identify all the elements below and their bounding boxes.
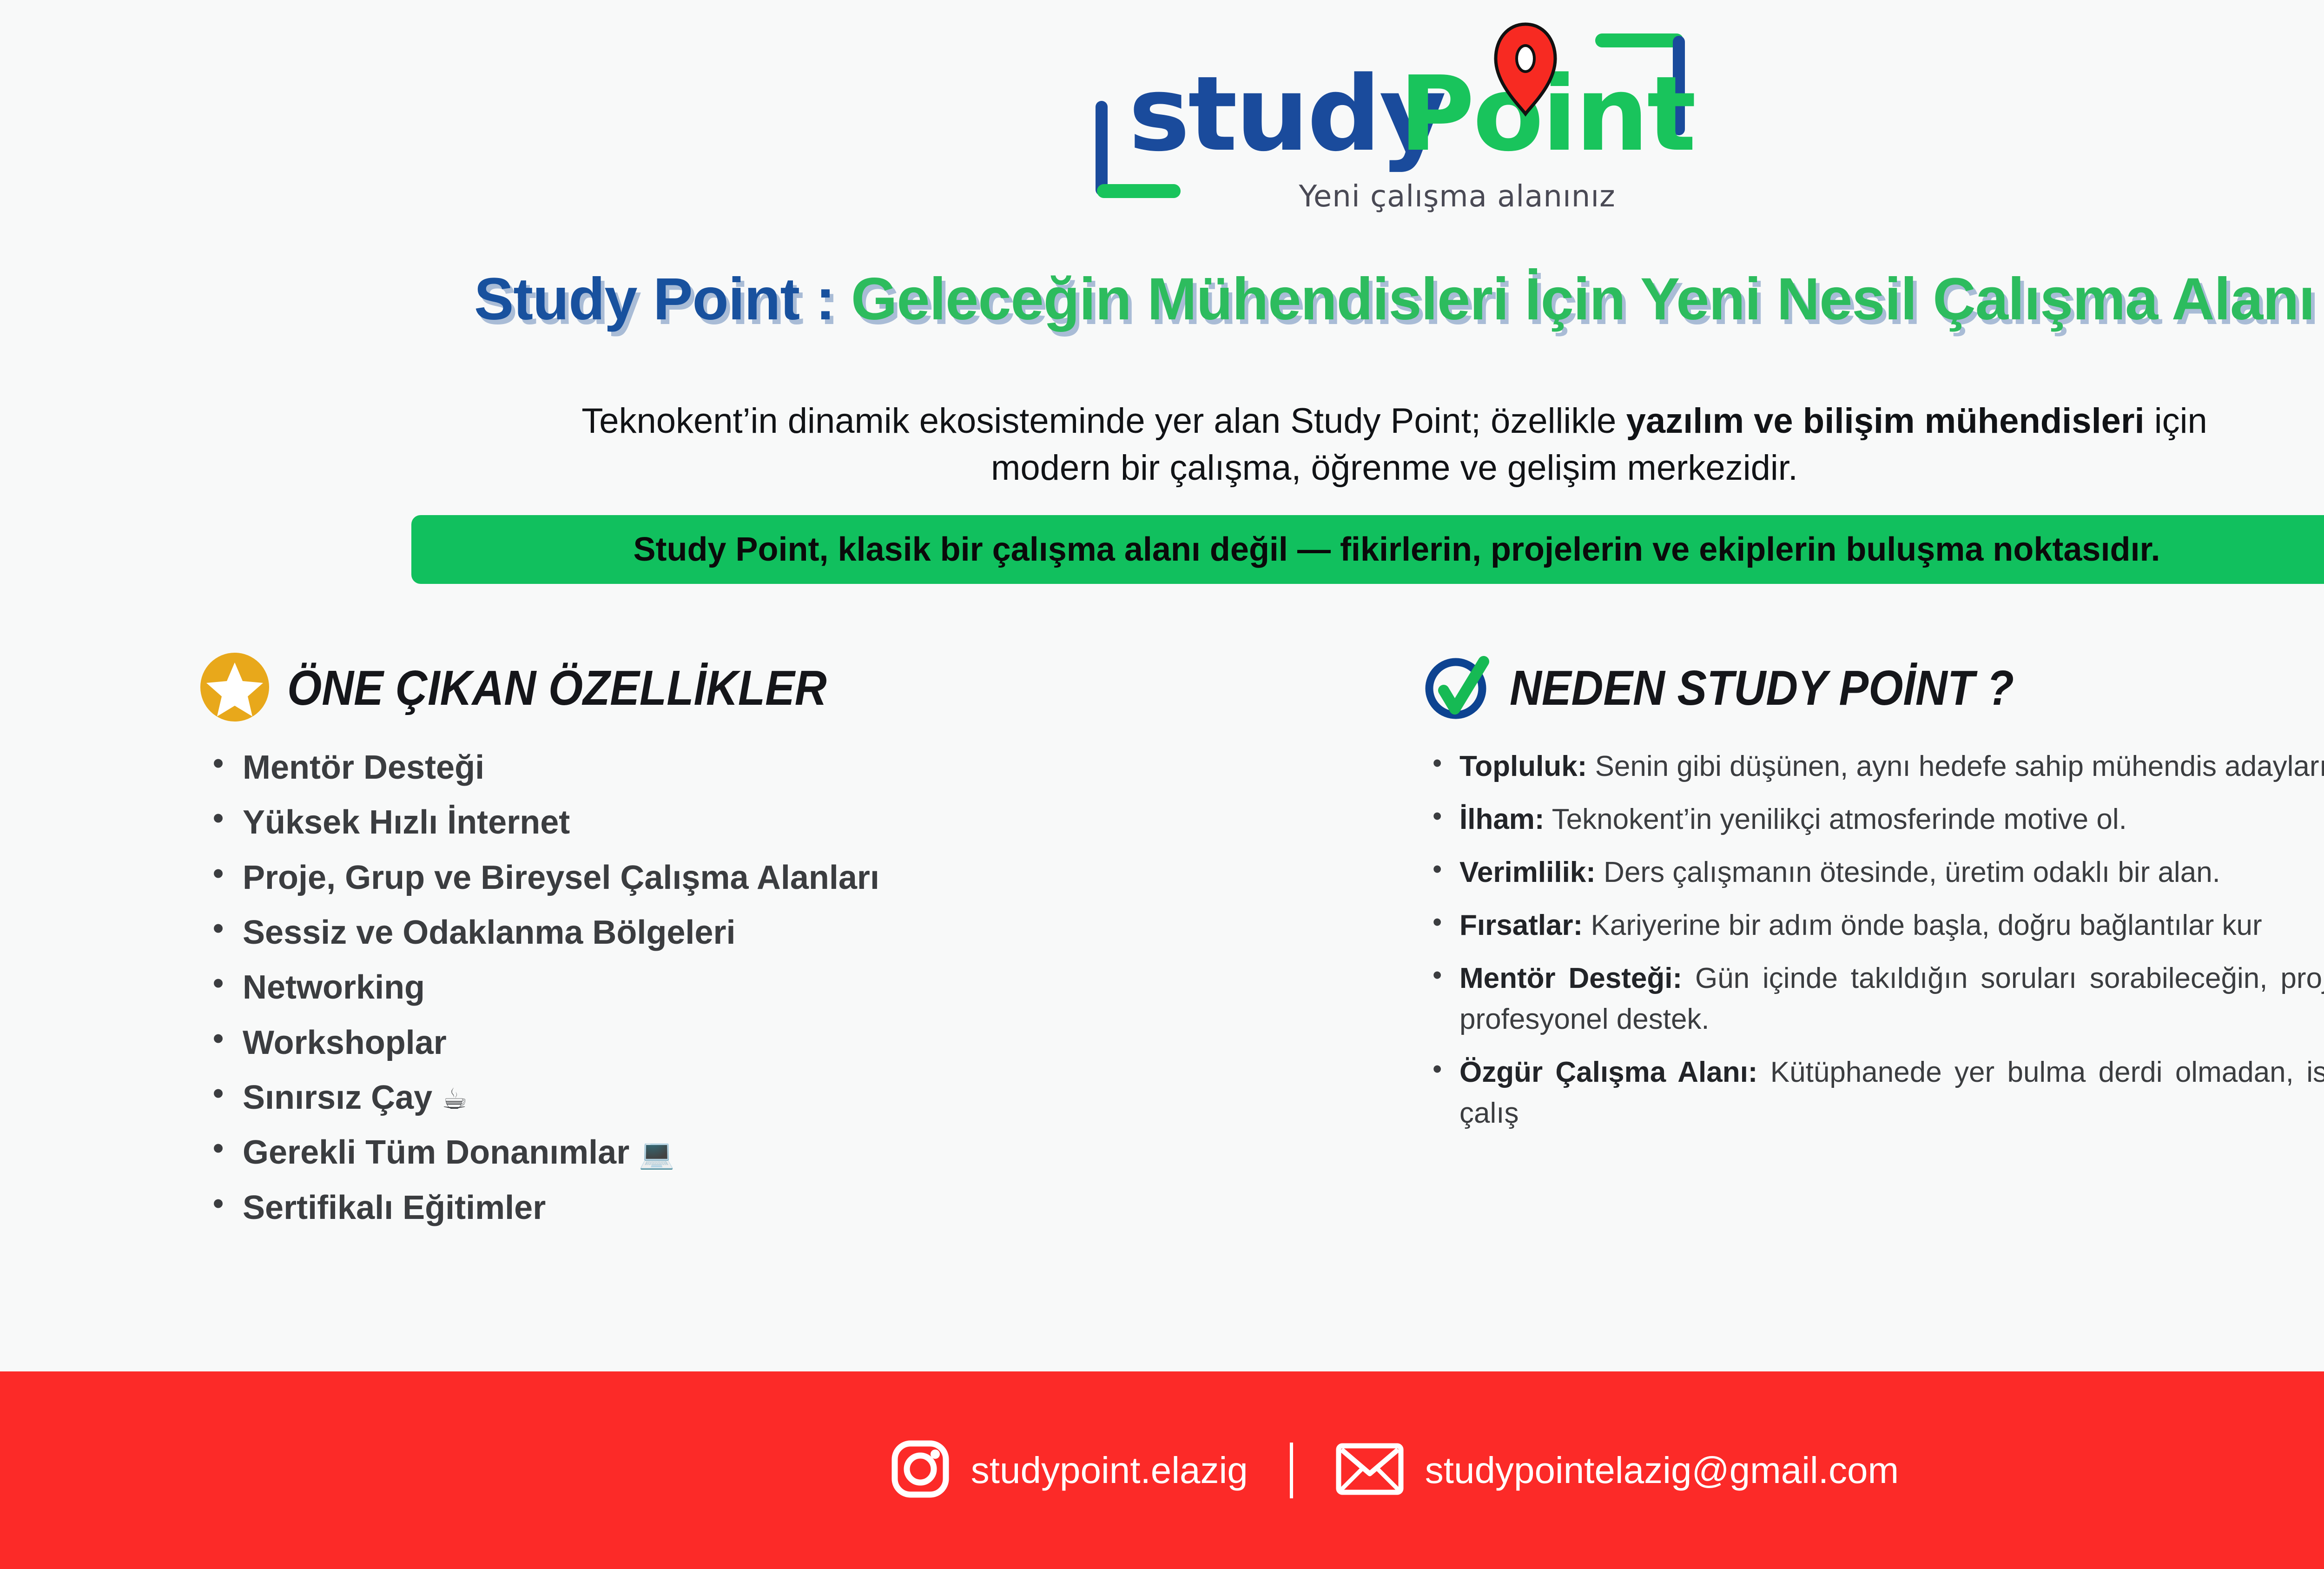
intro-line-2: modern bir çalışma, öğrenme ve gelişim m… — [991, 448, 1798, 488]
feature-text: Mentör Desteği — [243, 749, 484, 786]
list-item: Topluluk: Senin gibi düşünen, aynı hedef… — [1422, 746, 2324, 787]
list-item: Sertifikalı Eğitimler — [200, 1190, 1292, 1225]
feature-text: Gerekli Tüm Donanımlar — [243, 1134, 639, 1171]
feature-text: Yüksek Hızlı İnternet — [243, 804, 570, 841]
highlight-banner-text: Study Point, klasik bir çalışma alanı de… — [633, 530, 2160, 569]
feature-text: Workshoplar — [243, 1024, 447, 1061]
features-title: ÖNE ÇIKAN ÖZELLİKLER — [287, 660, 827, 716]
feature-text: Proje, Grup ve Bireysel Çalışma Alanları — [243, 859, 879, 896]
list-item: Yüksek Hızlı İnternet — [200, 805, 1292, 840]
why-label: Fırsatlar: — [1459, 909, 1583, 941]
intro-part-2: için — [2145, 401, 2207, 441]
laptop-emoji: 💻 — [639, 1137, 674, 1171]
why-text: Teknokent’in yenilikçi atmosferinde moti… — [1545, 803, 2127, 835]
logo-block: study Point Yeni çalışma alanınız — [0, 14, 2324, 214]
list-item: İlham: Teknokent’in yenilikçi atmosferin… — [1422, 799, 2324, 840]
why-text: Ders çalışmanın ötesinde, üretim odaklı … — [1596, 856, 2220, 888]
footer-bar: studypoint.elazig studypointelazig@gmail… — [0, 1371, 2324, 1569]
list-item: Gerekli Tüm Donanımlar 💻 — [200, 1135, 1292, 1170]
why-heading: NEDEN STUDY POİNT ? — [1422, 649, 2324, 728]
check-circle-icon — [1422, 652, 1492, 724]
page-title: Study Point : Geleceğin Mühendisleri İçi… — [0, 265, 2324, 333]
star-icon — [200, 652, 270, 724]
study-point-logo: study Point Yeni çalışma alanınız — [1074, 14, 1715, 214]
instagram-handle: studypoint.elazig — [971, 1449, 1248, 1492]
intro-part-1: Teknokent’in dinamik ekosisteminde yer a… — [581, 401, 1626, 441]
instagram-contact[interactable]: studypoint.elazig — [890, 1439, 1248, 1502]
list-item: Fırsatlar: Kariyerine bir adım önde başl… — [1422, 905, 2324, 946]
feature-text: Networking — [243, 969, 425, 1006]
list-item: Proje, Grup ve Bireysel Çalışma Alanları — [200, 860, 1292, 895]
footer-contacts: studypoint.elazig studypointelazig@gmail… — [0, 1371, 2324, 1569]
why-label: Mentör Desteği: — [1459, 962, 1682, 994]
features-list: Mentör Desteği Yüksek Hızlı İnternet Pro… — [200, 750, 1292, 1225]
tea-emoji: ☕ — [442, 1082, 468, 1116]
instagram-icon — [890, 1439, 951, 1502]
why-label: Verimlilik: — [1459, 856, 1596, 888]
envelope-icon — [1335, 1441, 1405, 1499]
why-column: NEDEN STUDY POİNT ? Topluluk: Senin gibi… — [1422, 649, 2324, 1146]
why-title: NEDEN STUDY POİNT ? — [1510, 660, 2014, 716]
list-item: Verimlilik: Ders çalışmanın ötesinde, ür… — [1422, 852, 2324, 893]
footer-divider — [1290, 1443, 1293, 1498]
list-item: Workshoplar — [200, 1025, 1292, 1060]
features-heading: ÖNE ÇIKAN ÖZELLİKLER — [200, 649, 1292, 728]
features-column: ÖNE ÇIKAN ÖZELLİKLER Mentör Desteği Yüks… — [200, 649, 1292, 1245]
why-text: Kariyerine bir adım önde başla, doğru ba… — [1583, 909, 2262, 941]
logo-tagline: Yeni çalışma alanınız — [1197, 179, 1717, 214]
why-label: Topluluk: — [1459, 750, 1587, 782]
page-title-rest: Geleceğin Mühendisleri İçin Yeni Nesil Ç… — [851, 266, 2315, 332]
list-item: Networking — [200, 970, 1292, 1005]
why-list: Topluluk: Senin gibi düşünen, aynı hedef… — [1422, 746, 2324, 1134]
feature-text: Sınırsız Çay — [243, 1079, 442, 1116]
list-item: Sessiz ve Odaklanma Bölgeleri — [200, 915, 1292, 950]
svg-text:study: study — [1129, 54, 1445, 174]
why-label: Özgür Çalışma Alanı: — [1459, 1056, 1757, 1088]
list-item: Mentör Desteği — [200, 750, 1292, 785]
intro-bold: yazılım ve bilişim mühendisleri — [1626, 401, 2145, 441]
highlight-banner: Study Point, klasik bir çalışma alanı de… — [411, 515, 2324, 584]
email-address: studypointelazig@gmail.com — [1425, 1449, 1899, 1492]
list-item: Sınırsız Çay ☕ — [200, 1080, 1292, 1115]
feature-text: Sessiz ve Odaklanma Bölgeleri — [243, 914, 736, 951]
list-item: Özgür Çalışma Alanı: Kütüphanede yer bul… — [1422, 1052, 2324, 1134]
why-label: İlham: — [1459, 803, 1545, 835]
list-item: Mentör Desteği: Gün içinde takıldığın so… — [1422, 958, 2324, 1040]
intro-paragraph: Teknokent’in dinamik ekosisteminde yer a… — [390, 397, 2324, 491]
why-text: Senin gibi düşünen, aynı hedefe sahip mü… — [1587, 750, 2324, 782]
feature-text: Sertifikalı Eğitimler — [243, 1189, 546, 1226]
page-title-prefix: Study Point : — [474, 266, 851, 332]
email-contact[interactable]: studypointelazig@gmail.com — [1335, 1441, 1899, 1499]
